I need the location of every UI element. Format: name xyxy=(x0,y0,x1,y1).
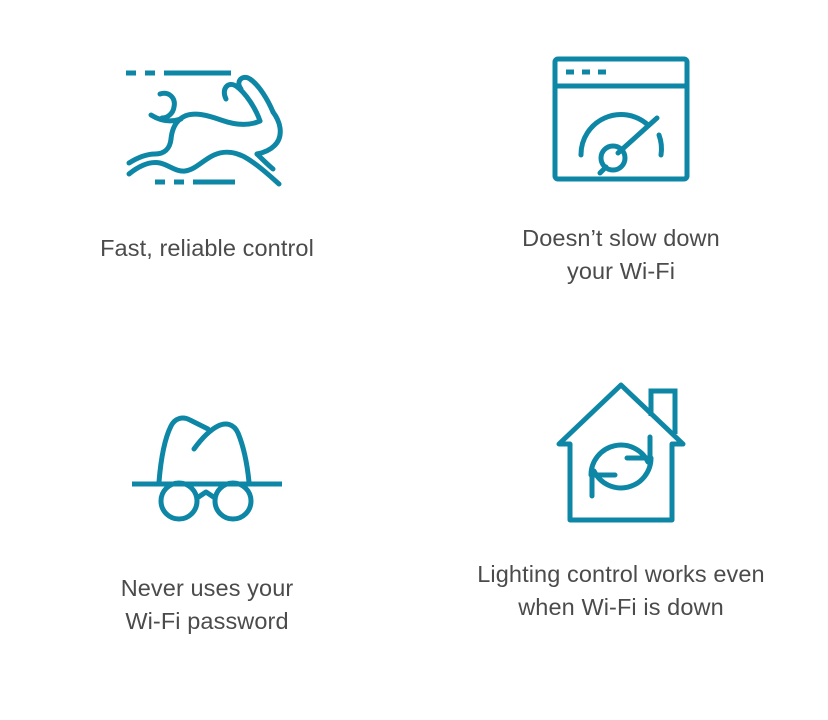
house-refresh-icon xyxy=(555,378,687,528)
feature-label: Fast, reliable control xyxy=(100,232,314,265)
feature-card-doesnt-slow-wifi: Doesn’t slow down your Wi-Fi xyxy=(414,38,828,368)
feature-card-fast-reliable-control: Fast, reliable control xyxy=(0,38,414,368)
feature-label: Lighting control works even when Wi-Fi i… xyxy=(477,558,764,624)
feature-label: Never uses your Wi-Fi password xyxy=(121,572,294,638)
feature-grid: Fast, reliable control xyxy=(0,0,828,720)
feature-card-lighting-works-wifi-down: Lighting control works even when Wi-Fi i… xyxy=(414,368,828,698)
running-rabbit-icon xyxy=(117,52,297,202)
feature-card-never-uses-wifi-password: Never uses your Wi-Fi password xyxy=(0,368,414,698)
incognito-hat-glasses-icon xyxy=(128,386,286,536)
feature-label: Doesn’t slow down your Wi-Fi xyxy=(522,222,720,288)
browser-speedometer-icon xyxy=(551,44,691,194)
